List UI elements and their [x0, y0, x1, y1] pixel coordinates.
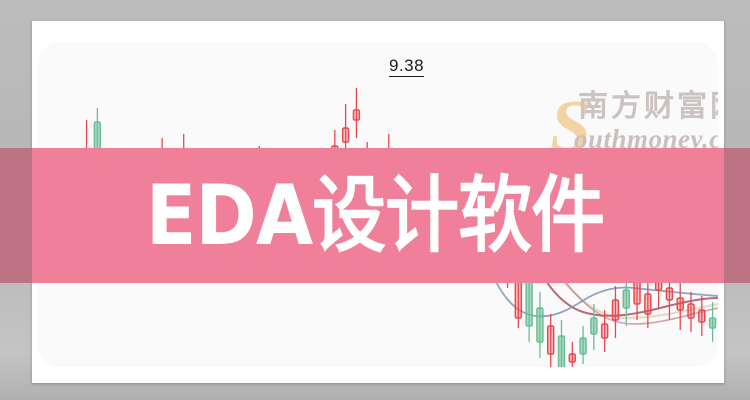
candle-body	[688, 304, 694, 318]
candle-body	[569, 354, 575, 362]
candle-body	[353, 110, 359, 120]
candle-body	[710, 318, 716, 328]
candle-body	[343, 128, 349, 142]
candle-body	[612, 300, 618, 320]
candle-body	[699, 310, 705, 322]
headline-container: EDA设计软件	[0, 148, 750, 283]
candle-body	[602, 324, 608, 338]
candle-body	[623, 290, 629, 308]
candle-body	[645, 294, 651, 314]
page-title: EDA设计软件	[146, 174, 604, 257]
candle-body	[677, 298, 683, 310]
candle-body	[548, 326, 554, 354]
candle-body	[666, 288, 672, 300]
price-high-label: 9.38	[389, 57, 424, 77]
screenshot-root: 9.38 S 南方财富网 outhmoney.com EDA设计软件	[0, 0, 750, 400]
candle-body	[94, 122, 100, 150]
candle-body	[634, 282, 640, 304]
candle-body	[580, 338, 586, 354]
candle-body	[591, 318, 597, 334]
candle-body	[537, 308, 543, 342]
candle-body	[559, 336, 565, 367]
